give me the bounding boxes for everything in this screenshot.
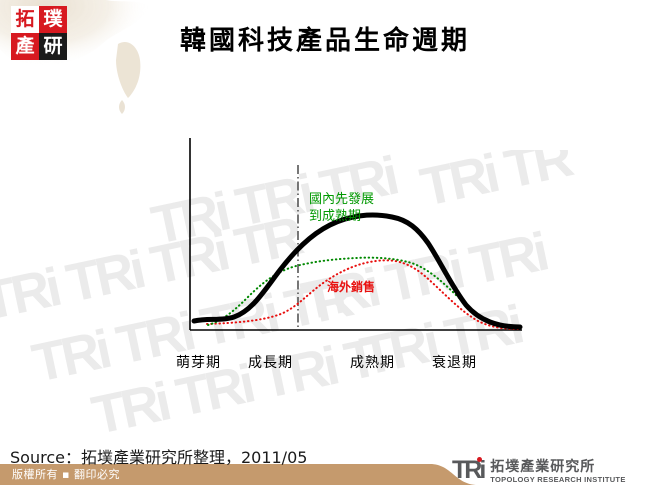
total-lifecycle-curve xyxy=(194,215,520,327)
domestic-note-line-1: 國內先發展 xyxy=(309,191,374,208)
brand-logo-char-2: 璞 xyxy=(39,6,67,33)
footer-logo-names: 拓墣產業研究所 TOPOLOGY RESEARCH INSTITUTE xyxy=(490,460,625,484)
footer-logo-mark: TRi xyxy=(452,458,483,483)
footer-logo-chinese-name: 拓墣產業研究所 xyxy=(490,460,625,474)
copyright-notice: 版權所有 ▪ 翻印必究 xyxy=(12,466,120,482)
domestic-note-annotation: 國內先發展 到成熟期 xyxy=(309,191,374,225)
overseas-note-annotation: 海外銷售 xyxy=(327,278,375,295)
brand-logo: 拓 璞 產 研 xyxy=(11,6,67,60)
domestic-note-line-2: 到成熟期 xyxy=(309,208,374,225)
chart-axes xyxy=(190,138,522,330)
source-note: Source：拓墣產業研究所整理，2011/05 xyxy=(10,444,307,468)
page-title: 韓國科技產品生命週期 xyxy=(0,20,650,57)
brand-logo-char-1: 拓 xyxy=(11,6,39,33)
axis-label-category-1: 成長期 xyxy=(248,352,293,372)
product-lifecycle-chart xyxy=(160,125,540,375)
chart-svg xyxy=(160,125,540,375)
footer-logo: TRi 拓墣產業研究所 TOPOLOGY RESEARCH INSTITUTE xyxy=(452,455,626,483)
axis-label-category-3: 衰退期 xyxy=(432,352,477,372)
axis-label-category-2: 成熟期 xyxy=(350,352,395,372)
axis-label-category-0: 萌芽期 xyxy=(176,352,221,372)
footer-logo-english-name: TOPOLOGY RESEARCH INSTITUTE xyxy=(490,476,625,484)
brand-logo-char-4: 研 xyxy=(39,33,67,60)
brand-logo-char-3: 產 xyxy=(11,33,39,60)
slide-canvas: TRi TRi TRi TR TRi TRi TRi TR TRi TRi TR… xyxy=(0,0,650,485)
chart-category-labels: 萌芽期 成長期 成熟期 衰退期 xyxy=(160,352,540,378)
